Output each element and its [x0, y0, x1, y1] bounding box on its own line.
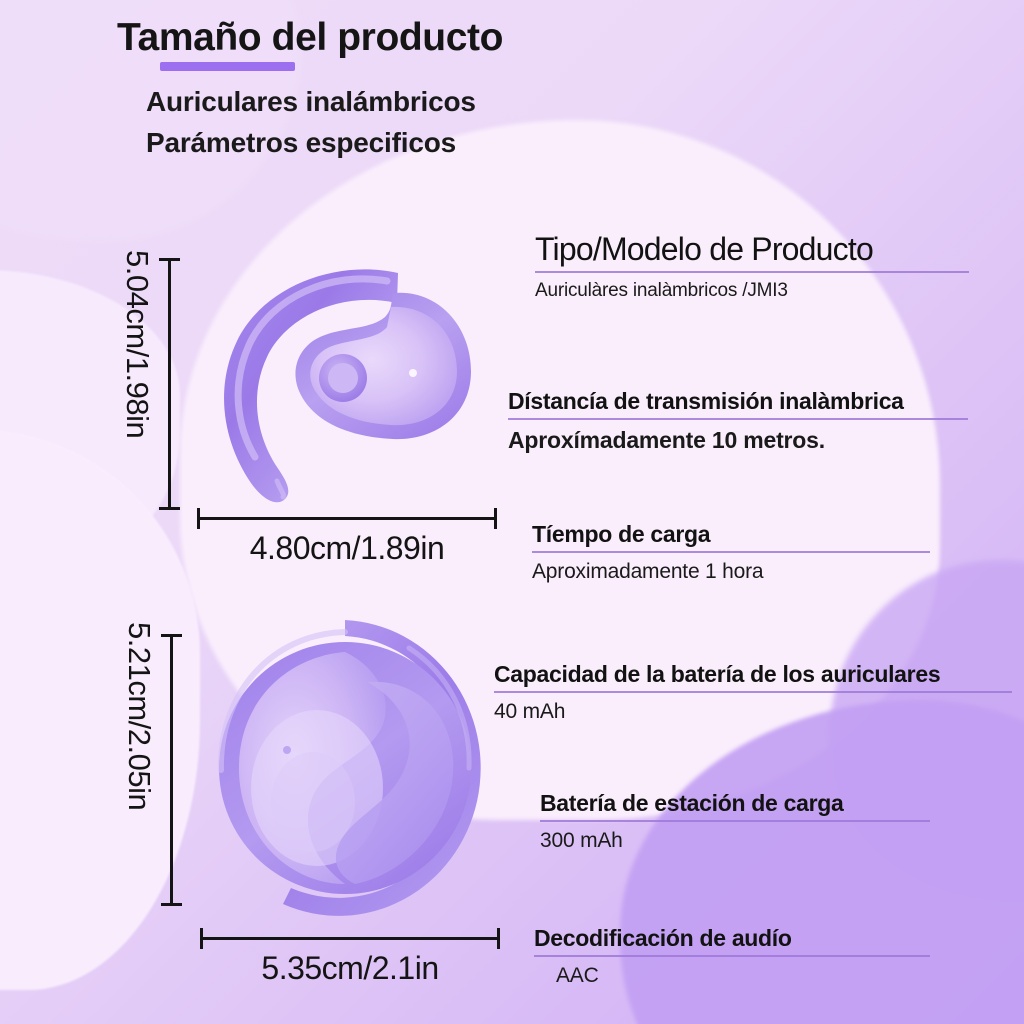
spec-row-audio-codec: Decodificación de audío AAC: [534, 925, 930, 988]
spec-label-earbud-battery: Capacidad de la batería de los auricular…: [494, 661, 1012, 688]
specifications-list: Tipo/Modelo de Producto Auriculàres inal…: [0, 0, 1024, 1024]
spec-value-audio-codec: AAC: [556, 964, 930, 988]
spec-label-case-battery: Batería de estación de carga: [540, 790, 930, 817]
spec-divider-case-battery: [540, 820, 930, 822]
spec-divider-earbud-battery: [494, 691, 1012, 693]
spec-row-charging-time: Tíempo de carga Aproximadamente 1 hora: [532, 521, 930, 584]
spec-divider-product-model: [535, 271, 969, 273]
spec-row-transmission-distance: Dístancía de transmisión inalàmbrica Apr…: [508, 388, 968, 454]
spec-label-charging-time: Tíempo de carga: [532, 521, 930, 548]
product-size-infographic: Tamaño del producto Auriculares inalámbr…: [0, 0, 1024, 1024]
spec-value-case-battery: 300 mAh: [540, 829, 930, 853]
spec-divider-audio-codec: [534, 955, 930, 957]
spec-divider-charging-time: [532, 551, 930, 553]
spec-label-product-model: Tipo/Modelo de Producto: [535, 231, 969, 268]
spec-row-earbud-battery: Capacidad de la batería de los auricular…: [494, 661, 1012, 724]
spec-label-audio-codec: Decodificación de audío: [534, 925, 930, 952]
spec-label-transmission-distance: Dístancía de transmisión inalàmbrica: [508, 388, 968, 415]
spec-value-charging-time: Aproximadamente 1 hora: [532, 560, 930, 584]
spec-divider-transmission-distance: [508, 418, 968, 420]
spec-value-transmission-distance: Aproxímadamente 10 metros.: [508, 427, 968, 454]
spec-value-earbud-battery: 40 mAh: [494, 700, 1012, 724]
spec-row-case-battery: Batería de estación de carga 300 mAh: [540, 790, 930, 853]
spec-value-product-model: Auriculàres inalàmbricos /JMI3: [535, 280, 969, 302]
spec-row-product-model: Tipo/Modelo de Producto Auriculàres inal…: [535, 231, 969, 302]
